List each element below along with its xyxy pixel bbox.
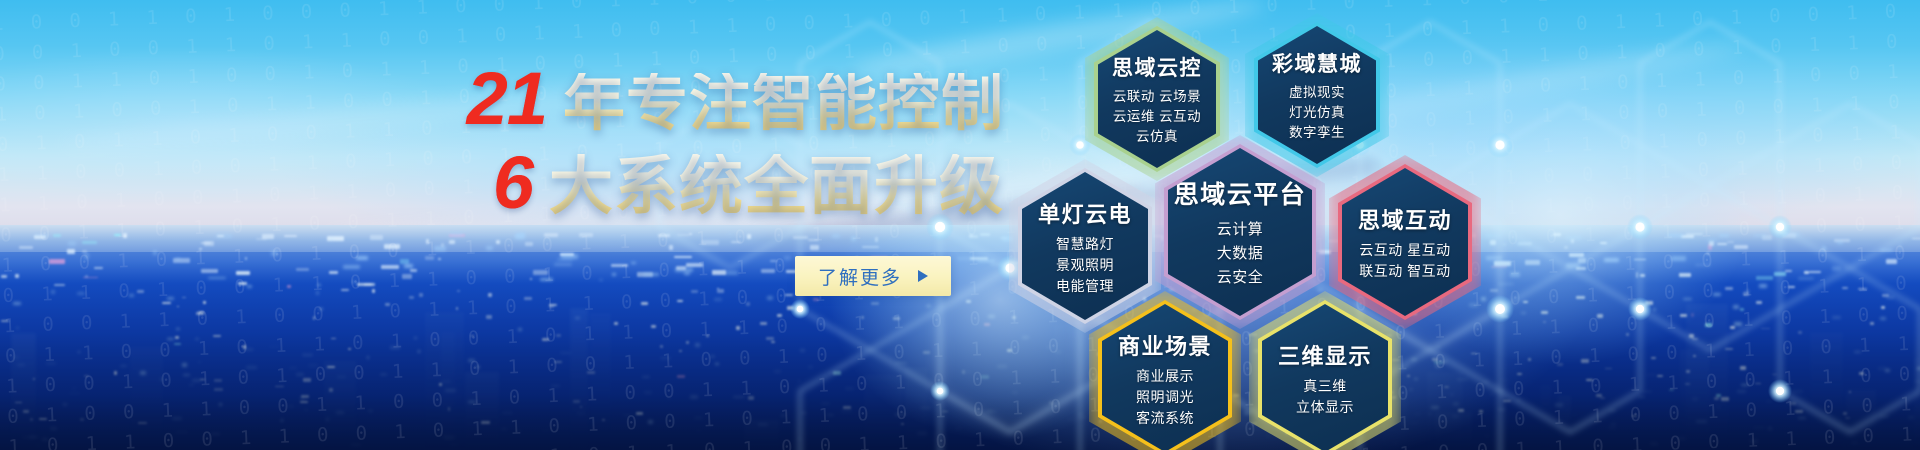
hexagon-card-subtitle: 客流系统 <box>1136 408 1194 428</box>
hexagon-card-subtitle: 联互动 智互动 <box>1359 261 1450 281</box>
hexagon-card-title: 思域云平台 <box>1174 175 1307 211</box>
hexagon-card-subtitle: 大数据 <box>1217 242 1264 265</box>
hexagon-card-subtitle: 云运维 云互动 <box>1113 107 1201 126</box>
hexagon-card-body: 思域云平台云计算大数据云安全 <box>1168 148 1312 316</box>
hexagon-card-subtitle: 云仿真 <box>1113 127 1201 146</box>
hexagon-card-subtitles: 智慧路灯景观照明电能管理 <box>1056 234 1114 296</box>
hexagon-card-subtitles: 虚拟现实灯光仿真数字孪生 <box>1289 83 1345 142</box>
hexagon-card-subtitles: 云计算大数据云安全 <box>1217 218 1264 289</box>
hexagon-card-subtitle: 虚拟现实 <box>1289 83 1345 102</box>
hexagon-card-body: 思域云控云联动 云场景云运维 云互动云仿真 <box>1098 30 1216 168</box>
hexagon-card-subtitle: 电能管理 <box>1056 276 1114 296</box>
hexagon-card-subtitle: 云安全 <box>1217 266 1264 289</box>
hexagon-card-subtitle: 灯光仿真 <box>1289 103 1345 122</box>
hexagon-card-title: 彩域慧城 <box>1272 48 1362 78</box>
hero-banner: 1 0 0 1 0 0 1 1 0 1 0 0 0 1 1 0 0 1 0 1 … <box>0 0 1920 450</box>
hexagon-card-subtitles: 商业展示照明调光客流系统 <box>1136 366 1194 428</box>
hexagon-card-body: 思域互动云互动 星互动联互动 智互动 <box>1342 168 1468 316</box>
hexagon-card-subtitle: 立体显示 <box>1296 397 1354 417</box>
hexagon-card-subtitle: 智慧路灯 <box>1056 234 1114 254</box>
hexagon-card-subtitle: 商业展示 <box>1136 366 1194 386</box>
hexagon-card-subtitle: 数字孪生 <box>1289 123 1345 142</box>
hexagon-card-subtitle: 云计算 <box>1217 218 1264 241</box>
hexagon-card-title: 单灯云电 <box>1038 197 1132 229</box>
hexagon-card-body: 三维显示真三维立体显示 <box>1262 304 1388 450</box>
hexagon-card-body: 彩域慧城虚拟现实灯光仿真数字孪生 <box>1258 26 1376 164</box>
hexagon-card-title: 商业场景 <box>1118 329 1212 361</box>
hexagon-card-subtitle: 真三维 <box>1296 376 1354 396</box>
hexagon-card-subtitle: 云联动 云场景 <box>1113 87 1201 106</box>
hexagon-card-cluster: 思域云控云联动 云场景云运维 云互动云仿真彩域慧城虚拟现实灯光仿真数字孪生单灯云… <box>0 0 1920 450</box>
hexagon-card-subtitles: 云互动 星互动联互动 智互动 <box>1359 240 1450 281</box>
hexagon-card-subtitle: 照明调光 <box>1136 387 1194 407</box>
hexagon-card-title: 思域互动 <box>1358 203 1452 235</box>
hexagon-card-subtitle: 云互动 星互动 <box>1359 240 1450 260</box>
hexagon-card-body: 单灯云电智慧路灯景观照明电能管理 <box>1022 172 1148 320</box>
hexagon-card-subtitle: 景观照明 <box>1056 255 1114 275</box>
hexagon-card-title: 思域云控 <box>1112 52 1202 82</box>
hexagon-card-title: 三维显示 <box>1278 339 1372 371</box>
hexagon-card-subtitles: 真三维立体显示 <box>1296 376 1354 417</box>
hexagon-card-subtitles: 云联动 云场景云运维 云互动云仿真 <box>1113 87 1201 146</box>
hexagon-card-body: 商业场景商业展示照明调光客流系统 <box>1102 304 1228 450</box>
